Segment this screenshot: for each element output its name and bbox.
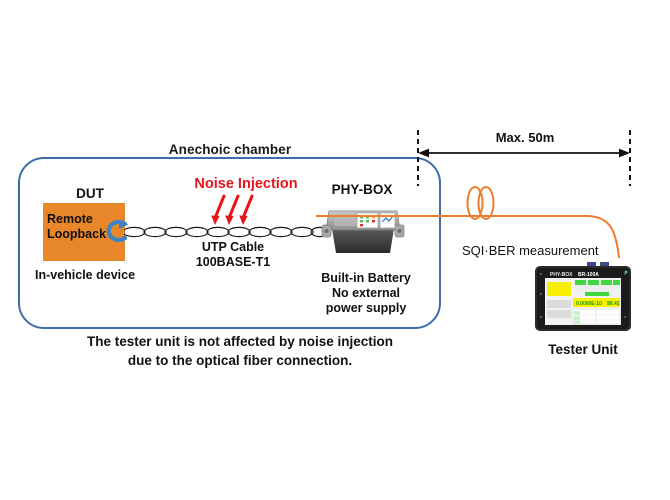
noise-injection-label: Noise Injection	[180, 176, 312, 192]
dut-title: DUT	[40, 186, 140, 201]
svg-text:0.0000E-10: 0.0000E-10	[576, 301, 602, 307]
footnote: The tester unit is not affected by noise…	[40, 332, 440, 370]
dut-box-label: Remote Loopback	[47, 212, 109, 242]
utp-cable-label: UTP Cable 100BASE-T1	[178, 240, 288, 270]
footnote-line2: due to the optical fiber connection.	[40, 351, 440, 370]
anechoic-chamber-label: Anechoic chamber	[140, 142, 320, 157]
diagram-canvas: Anechoic chamber DUT Remote Loopback In-…	[0, 0, 670, 500]
svg-text:98.42: 98.42	[607, 301, 620, 307]
tester-unit-caption: Tester Unit	[528, 342, 638, 357]
phybox-caption: Built-in Battery No external power suppl…	[296, 271, 436, 316]
dut-box-label-line1: Remote	[47, 212, 109, 227]
noise-injection-arrows-icon	[207, 194, 267, 226]
fiber-measurement-label: SQI·BER measurement	[462, 243, 632, 258]
svg-text:PHY-BOX: PHY-BOX	[550, 272, 573, 278]
footnote-line1: The tester unit is not affected by noise…	[40, 332, 440, 351]
phybox-caption-line3: power supply	[296, 301, 436, 316]
phybox-caption-line2: No external	[296, 286, 436, 301]
dut-caption: In-vehicle device	[20, 268, 150, 282]
dut-box-label-line2: Loopback	[47, 227, 109, 242]
utp-cable-label-line1: UTP Cable	[178, 240, 288, 255]
svg-text:BR-100A: BR-100A	[578, 272, 599, 278]
utp-cable-label-line2: 100BASE-T1	[178, 255, 288, 270]
tester-unit-image: PHY-BOX BR-100A 0.0000E-10 98.42	[533, 262, 633, 339]
distance-dimension-line	[410, 130, 640, 186]
